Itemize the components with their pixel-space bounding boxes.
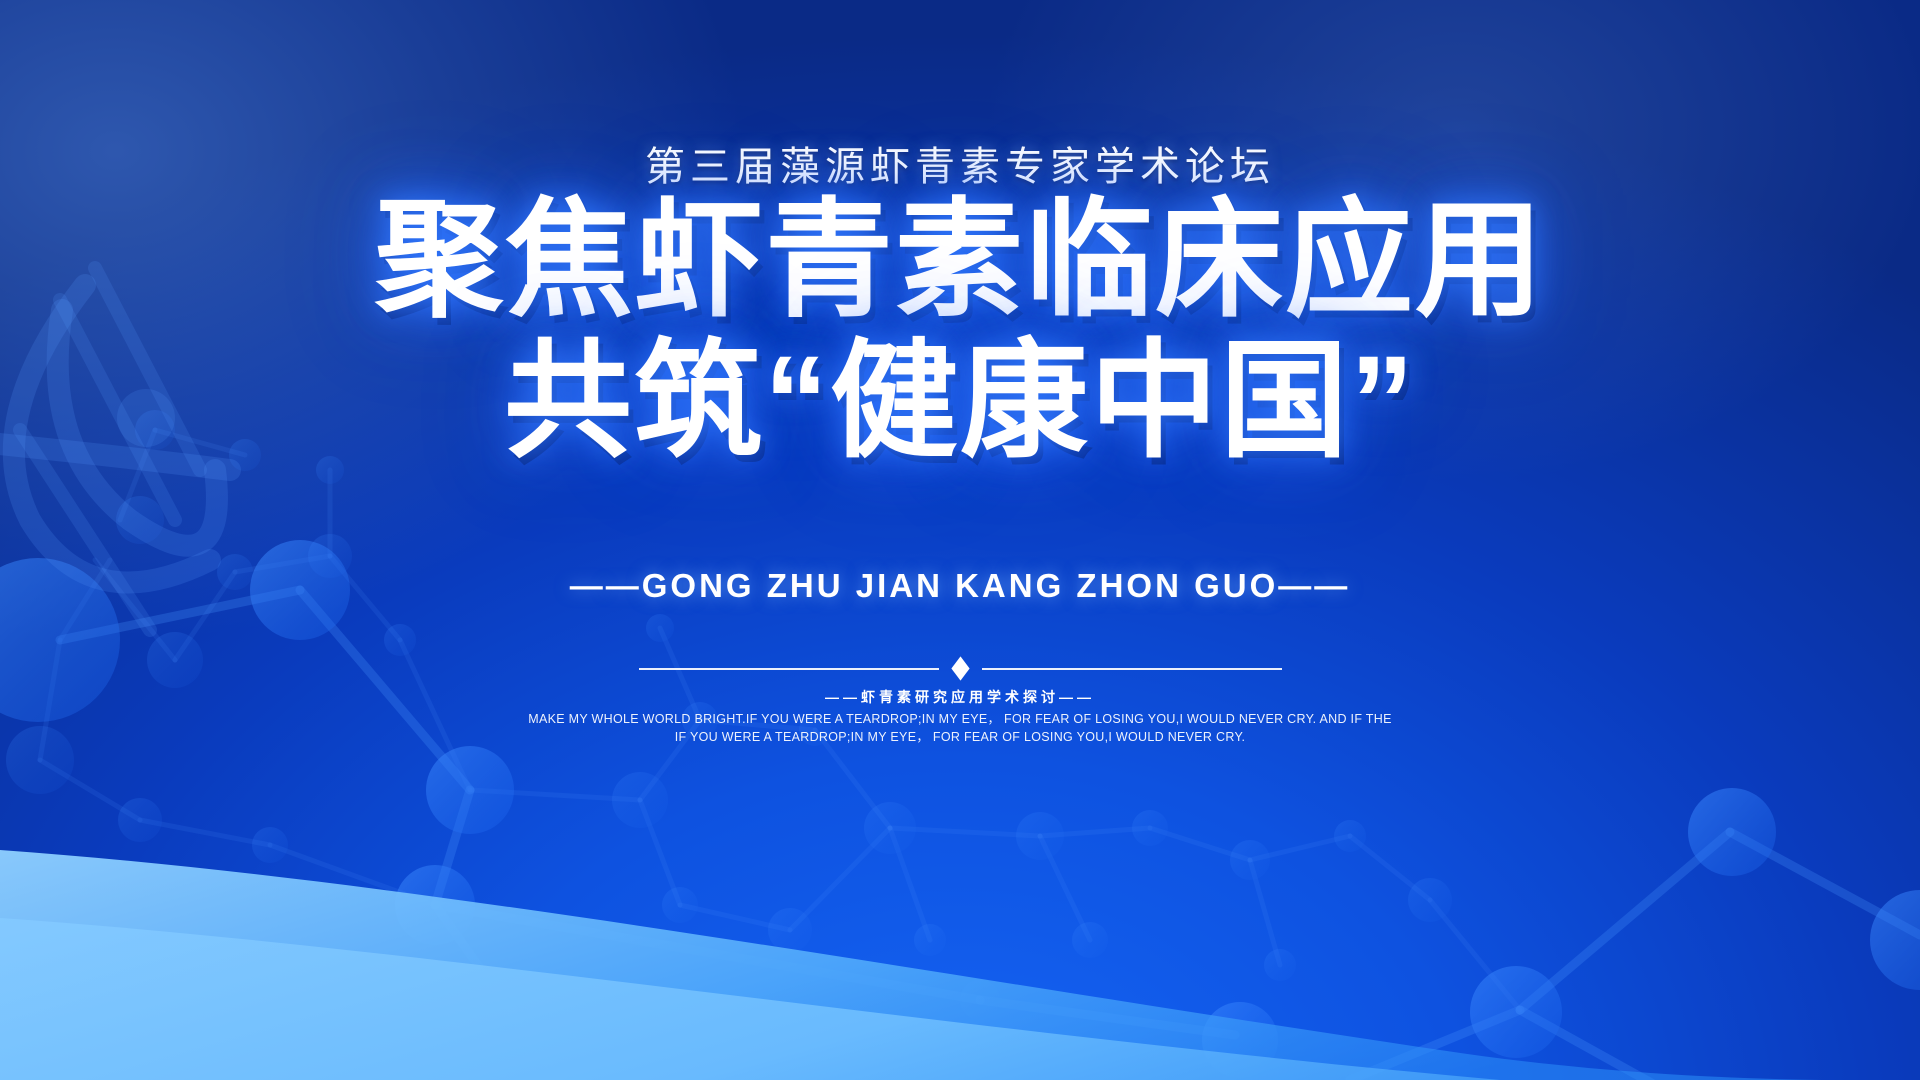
diamond-icon [951, 656, 969, 680]
pinyin-subtitle: ——GONG ZHU JIAN KANG ZHON GUO—— [0, 567, 1920, 605]
sub-caption-cn: ——虾青素研究应用学术探讨—— [0, 687, 1920, 707]
title-line-2: 共筑“健康中国” [0, 337, 1920, 468]
divider-rule-right [982, 668, 1282, 670]
english-line-2: IF YOU WERE A TEARDROP;IN MY EYE， FOR FE… [0, 728, 1920, 746]
banner-poster: 第三届藻源虾青素专家学术论坛 聚焦虾青素临床应用 共筑“健康中国” ——GONG… [0, 0, 1920, 1080]
divider [0, 661, 1920, 676]
title-line-1: 聚焦虾青素临床应用 [0, 196, 1920, 327]
page-title: 聚焦虾青素临床应用 共筑“健康中国” [0, 196, 1920, 467]
event-eyebrow: 第三届藻源虾青素专家学术论坛 [0, 134, 1920, 192]
english-line-1: MAKE MY WHOLE WORLD BRIGHT.IF YOU WERE A… [0, 710, 1920, 728]
wave-ribbon-icon [0, 780, 1920, 1080]
english-caption: MAKE MY WHOLE WORLD BRIGHT.IF YOU WERE A… [0, 710, 1920, 746]
divider-rule-left [639, 668, 939, 670]
